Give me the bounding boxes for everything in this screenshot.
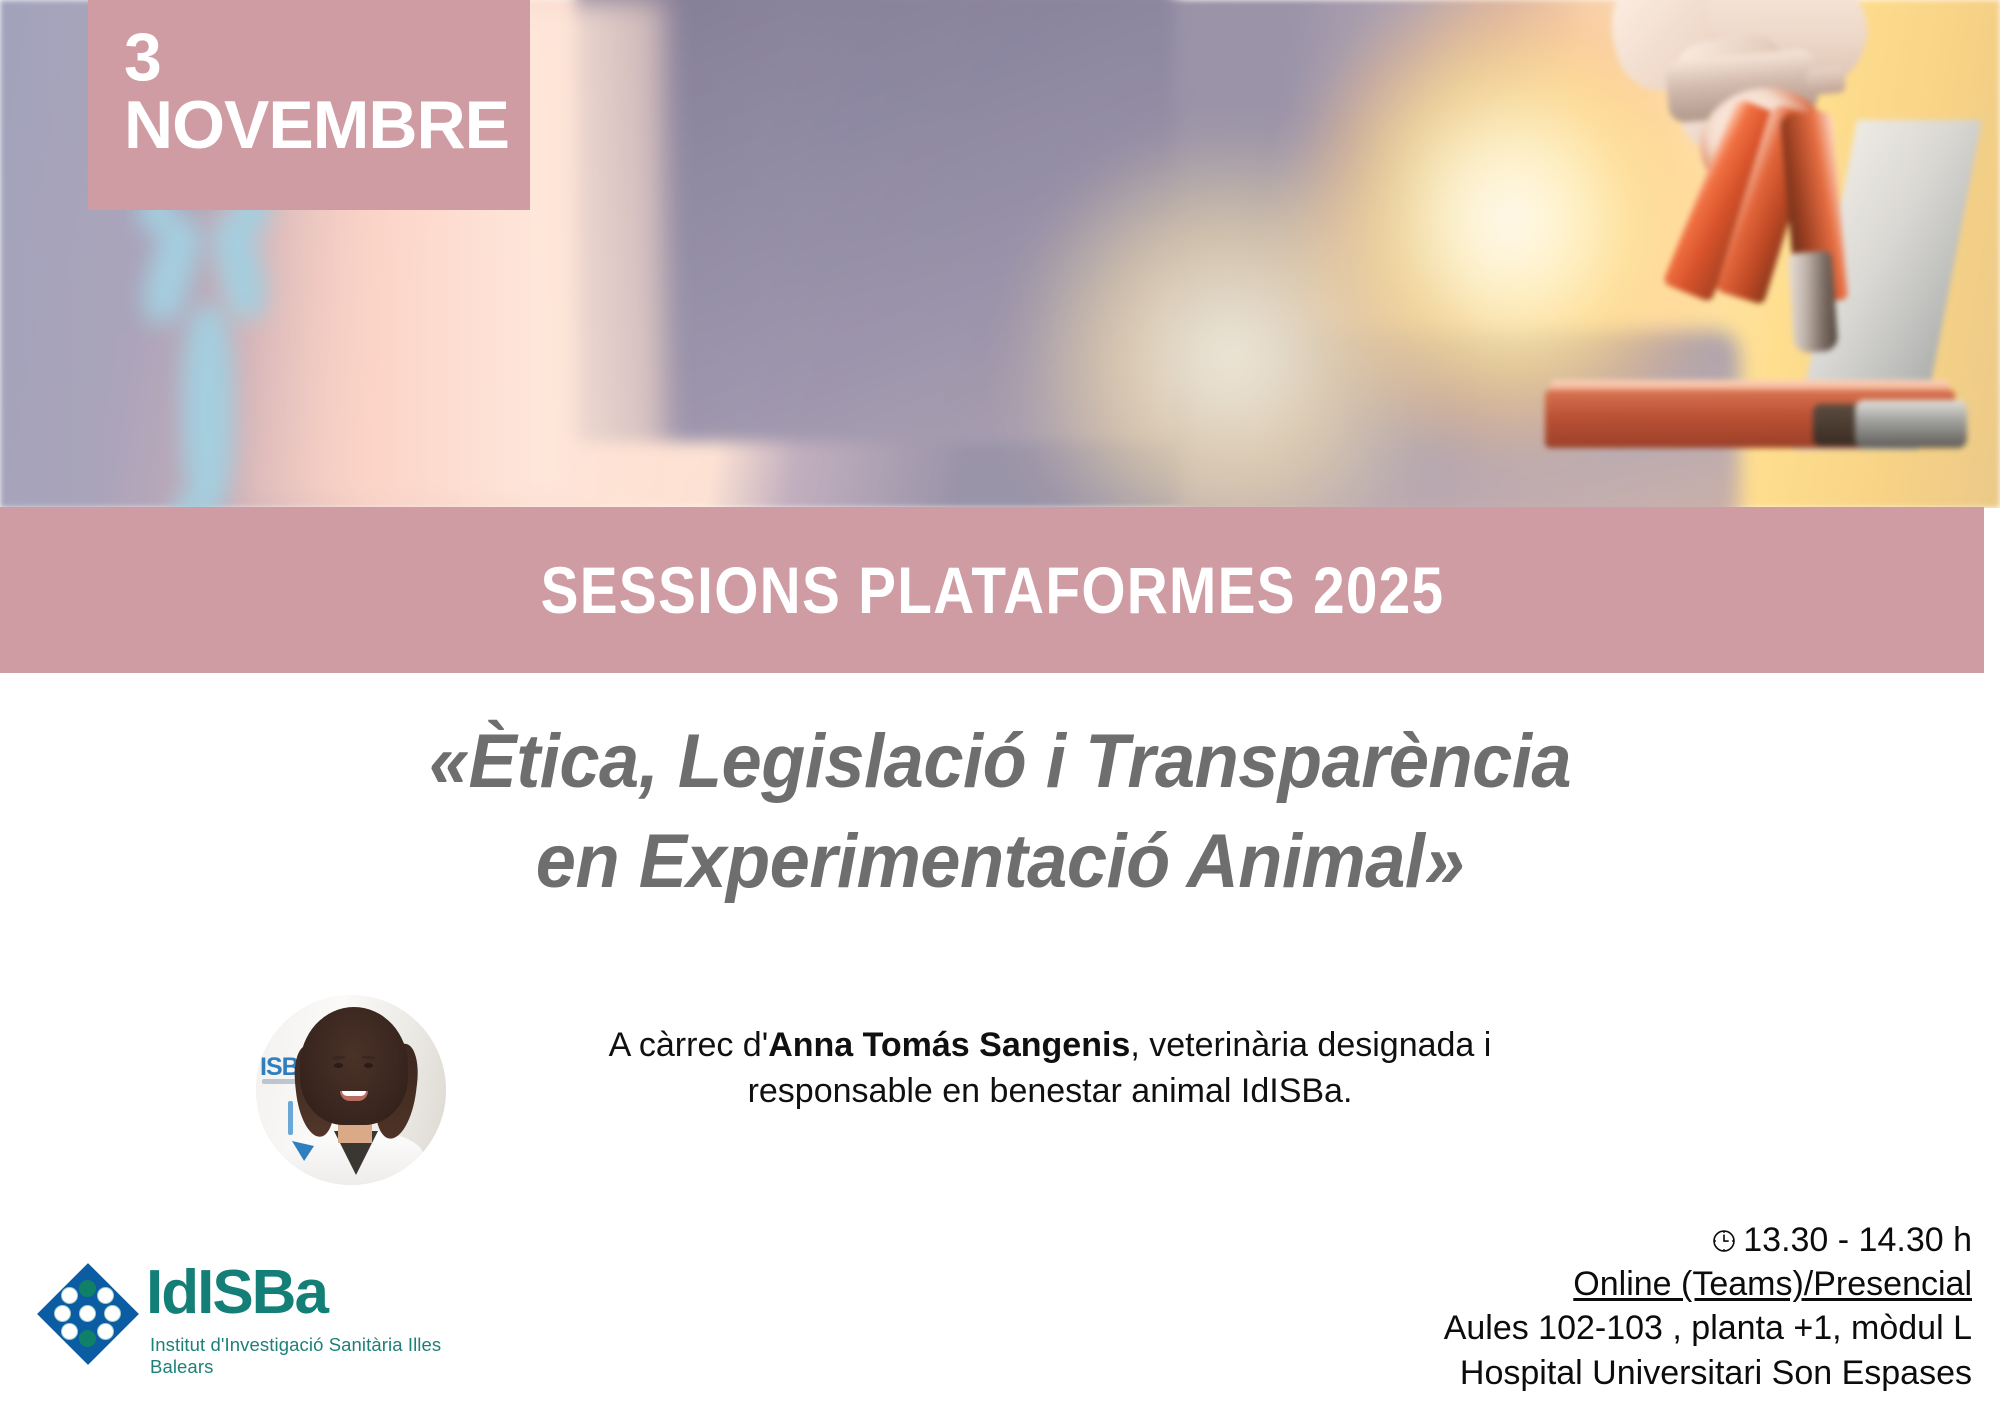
event-poster: 3 NOVEMBRE SESSIONS PLATAFORMES 2025 «Èt…: [0, 0, 2000, 1414]
avatar-teeth: [342, 1091, 366, 1096]
diamond-dot-top-left: [61, 1287, 78, 1304]
speaker-description-line-1: A càrrec d'Anna Tomás Sangenis, veterinà…: [520, 1023, 1580, 1069]
idisba-tagline: Institut d'Investigació Sanitària Illes …: [150, 1334, 460, 1378]
speaker-section: ISBa A càrrec d'Anna Tomás Sangenis, vet…: [0, 985, 2000, 1175]
speaker-description: A càrrec d'Anna Tomás Sangenis, veterinà…: [520, 1023, 1580, 1114]
event-mode-line: Online (Teams)/Presencial: [1072, 1262, 1972, 1306]
diamond-dot-mid-right: [104, 1305, 121, 1322]
session-title-line-1: «Ètica, Legislació i Transparència: [50, 712, 1950, 812]
speaker-description-line-2: responsable en benestar animal IdISBa.: [520, 1069, 1580, 1115]
diamond-dot-mid-left: [54, 1305, 71, 1322]
diamond-dot-bottom-center: [79, 1330, 96, 1347]
date-badge: 3 NOVEMBRE: [88, 0, 530, 210]
speaker-avatar: ISBa: [256, 995, 446, 1185]
avatar-wall-strip: [288, 1101, 293, 1135]
idisba-wordmark: IdISBa: [146, 1262, 327, 1324]
date-day: 3: [124, 26, 530, 89]
session-title: «Ètica, Legislació i Transparència en Ex…: [0, 712, 2000, 913]
series-banner: SESSIONS PLATAFORMES 2025: [0, 507, 1984, 673]
event-room: Aules 102-103 , planta +1, mòdul L: [1072, 1306, 1972, 1350]
speaker-suffix: , veterinària designada i: [1130, 1026, 1491, 1064]
avatar-eye-right: [364, 1063, 373, 1068]
diamond-dot-top-center: [79, 1280, 96, 1297]
diamond-dot-top-right: [97, 1287, 114, 1304]
speaker-prefix: A càrrec d': [609, 1026, 769, 1064]
event-time-line: 13.30 - 14.30 h: [1072, 1218, 1972, 1262]
avatar-eye-left: [334, 1063, 343, 1068]
idisba-diamond-icon: [40, 1266, 136, 1362]
diamond-dot-bottom-left: [61, 1323, 78, 1340]
event-mode: Online (Teams)/Presencial: [1573, 1265, 1972, 1303]
diamond-dot-bottom-right: [97, 1323, 114, 1340]
clock-icon: [1711, 1228, 1737, 1254]
diamond-dot-center: [79, 1305, 96, 1322]
series-banner-title: SESSIONS PLATAFORMES 2025: [540, 552, 1444, 628]
speaker-name: Anna Tomás Sangenis: [768, 1026, 1130, 1064]
session-title-line-2: en Experimentació Animal»: [50, 812, 1950, 912]
idisba-logo: IdISBa Institut d'Investigació Sanitària…: [40, 1258, 460, 1386]
event-time: 13.30 - 14.30 h: [1743, 1221, 1972, 1259]
date-month: NOVEMBRE: [124, 89, 530, 161]
avatar-hair-top: [300, 1007, 408, 1125]
event-venue: Hospital Universitari Son Espases: [1072, 1351, 1972, 1395]
event-details: 13.30 - 14.30 h Online (Teams)/Presencia…: [1072, 1218, 1972, 1395]
